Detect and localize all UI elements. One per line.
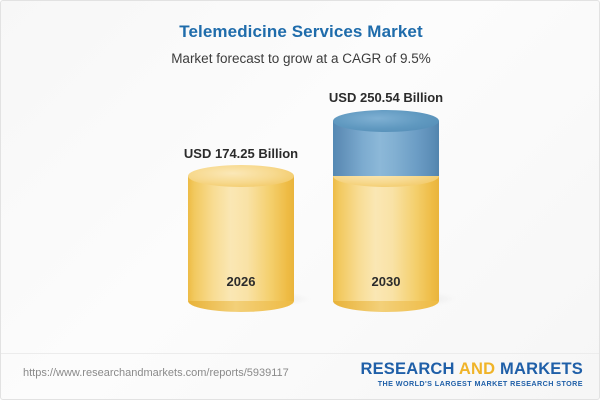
bar-segment-growth-2030 [333, 121, 439, 176]
cylinder-top-cap [188, 165, 294, 187]
logo-tagline: THE WORLD'S LARGEST MARKET RESEARCH STOR… [360, 379, 583, 389]
bar-chart: USD 174.25 Billion 2026 USD 250.54 Billi… [1, 1, 600, 346]
axis-label-2030: 2030 [306, 274, 466, 289]
source-url-link[interactable]: https://www.researchandmarkets.com/repor… [23, 367, 289, 379]
axis-label-2026: 2026 [161, 274, 321, 289]
cylinder-top-cap [333, 110, 439, 132]
data-label-2026: USD 174.25 Billion [161, 146, 321, 161]
logo-word-research: RESEARCH [360, 360, 454, 378]
logo-word-and: AND [459, 360, 495, 378]
data-label-2030: USD 250.54 Billion [306, 90, 466, 105]
infographic-card: Telemedicine Services Market Market fore… [0, 0, 600, 400]
footer: https://www.researchandmarkets.com/repor… [1, 354, 600, 399]
research-and-markets-logo[interactable]: RESEARCH AND MARKETS THE WORLD'S LARGEST… [360, 360, 583, 389]
logo-wordmark: RESEARCH AND MARKETS [360, 360, 583, 379]
logo-word-markets: MARKETS [500, 360, 583, 378]
